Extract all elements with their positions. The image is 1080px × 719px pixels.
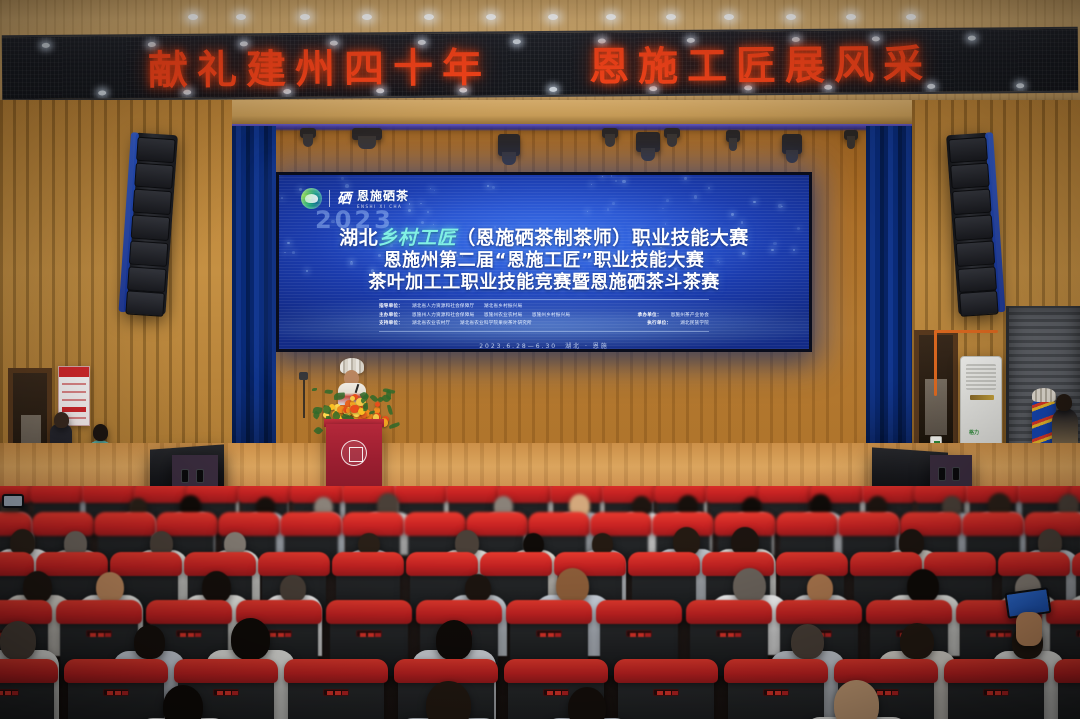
seat-number-plate	[323, 689, 349, 696]
seat-number-plate	[716, 630, 742, 637]
organizer-label: 主办单位：	[379, 312, 403, 321]
stage-spot-light	[352, 128, 382, 140]
organizer-row: 指导单位： 湖北省人力资源和社会保障厅 湖北省乡村振兴局	[379, 303, 709, 312]
audience-member-head	[436, 620, 473, 660]
audience-member-head	[791, 624, 824, 659]
stage-spot-light	[636, 132, 660, 152]
audience-member-head	[0, 621, 36, 660]
wall-conduit	[934, 330, 998, 333]
seat-number-plate	[626, 630, 652, 637]
organizer-label-secondary: 执行单位：	[647, 320, 671, 329]
seat-number-plate	[356, 630, 382, 637]
ac-display-panel	[970, 395, 994, 400]
staff-head	[54, 412, 69, 428]
stage-spot-light	[498, 134, 520, 156]
audience-member-head	[733, 568, 766, 604]
screen-date-location: 2023.6.28—6.30 湖北 · 恩施	[279, 341, 809, 349]
stage-spot-light	[844, 130, 858, 140]
screen-divider-top	[379, 299, 709, 300]
screen-title-line-2: 恩施州第二届“恩施工匠”职业技能大赛	[279, 250, 809, 272]
seat-number-plate	[543, 689, 569, 696]
stage-spot-light	[602, 128, 618, 138]
staff-head	[93, 424, 108, 441]
audience-member-head	[23, 571, 52, 602]
screen-bokeh-particles	[279, 175, 809, 349]
auditorium-seat[interactable]	[948, 671, 1044, 719]
logo-divider	[329, 190, 330, 207]
audience-member-head	[465, 574, 491, 602]
auditorium-seat[interactable]	[618, 671, 714, 719]
seat-number-plate	[0, 689, 19, 696]
organizer-value: 湖北省农业农村厅 湖北省农业科学院果树茶叶研究所	[412, 320, 532, 329]
title-1-suffix: （恩施硒茶制茶师）职业技能大赛	[456, 227, 749, 249]
audience-member-head	[280, 575, 305, 602]
attendee-phone-screen[interactable]	[2, 494, 24, 508]
seat-number-plate	[213, 689, 239, 696]
seat-number-plate	[653, 689, 679, 696]
stage-spot-light	[300, 128, 316, 138]
seat-number-plate	[86, 630, 112, 637]
stage-curtain-left	[232, 126, 276, 466]
audience-member-head	[907, 569, 939, 604]
audience-member-head	[96, 572, 124, 602]
seat-number-plate	[266, 630, 292, 637]
brand-name-cn: 恩施硒茶	[357, 189, 409, 203]
title-1-brush-text: 乡村工匠	[378, 227, 456, 249]
audience-member-head	[834, 680, 879, 719]
wall-conduit	[934, 330, 937, 396]
organizer-label: 指导单位：	[379, 303, 403, 312]
organizer-value-secondary: 恩施州茶产业协会	[671, 312, 709, 321]
ac-brand-label: 格力	[969, 429, 979, 436]
poster-header	[59, 367, 89, 377]
organizer-value: 湖北省人力资源和社会保障厅 湖北省乡村振兴局	[412, 303, 522, 312]
tea-emblem-icon	[301, 188, 322, 209]
audience-member-head	[163, 685, 203, 719]
stage-led-screen: 硒 恩施硒茶 ENSHI XI CHA 2023 湖北乡村工匠（恩施硒茶制茶师）…	[276, 172, 812, 352]
screen-divider-bottom	[379, 331, 709, 332]
podium-emblem-icon	[341, 440, 367, 466]
seat-number-plate	[763, 689, 789, 696]
speaking-podium	[326, 424, 382, 488]
microphone-stand	[303, 378, 305, 418]
attendee-head	[1056, 394, 1072, 411]
stage-spot-light	[782, 134, 802, 154]
auditorium-seat[interactable]	[288, 671, 384, 719]
ac-grille	[966, 364, 996, 390]
brand-name-pinyin: ENSHI XI CHA	[357, 204, 409, 209]
organizer-value: 恩施州人力资源和社会保障局 恩施州农业农村局 恩施州乡村振兴局	[412, 312, 570, 321]
seat-number-plate	[536, 630, 562, 637]
organizer-label: 支持单位：	[379, 320, 403, 329]
led-banner-text: 献礼建州四十年 恩施工匠展风采	[2, 31, 1078, 97]
stage-spot-light	[664, 128, 680, 138]
stage-spot-light	[726, 130, 740, 142]
audience-member-head	[231, 618, 270, 660]
seat-number-plate	[983, 689, 1009, 696]
title-1-prefix: 湖北	[339, 227, 378, 249]
audience-member-head	[202, 571, 231, 602]
screen-title-block: 湖北乡村工匠（恩施硒茶制茶师）职业技能大赛 恩施州第二届“恩施工匠”职业技能大赛…	[279, 227, 809, 294]
seat-number-plate	[176, 630, 202, 637]
organizer-row: 主办单位： 恩施州人力资源和社会保障局 恩施州农业农村局 恩施州乡村振兴局 承办…	[379, 312, 709, 321]
organizer-row: 支持单位： 湖北省农业农村厅 湖北省农业科学院果树茶叶研究所 执行单位： 湖北民…	[379, 320, 709, 329]
screen-logo-group: 硒 恩施硒茶 ENSHI XI CHA	[301, 187, 409, 209]
audience-seating-area	[0, 486, 1080, 719]
organizer-value-secondary: 湖北民族学院	[680, 320, 709, 329]
stage-curtain-right	[866, 126, 912, 466]
audience-member-head	[556, 568, 589, 603]
auditorium-scene: 献礼建州四十年 恩施工匠展风采 硒	[0, 0, 1080, 719]
seat-number-plate	[986, 630, 1012, 637]
ceiling-truss-lights	[0, 0, 1080, 30]
brand-mark-glyph: 硒	[337, 188, 350, 208]
brand-name: 恩施硒茶 ENSHI XI CHA	[357, 187, 409, 209]
auditorium-seat[interactable]	[0, 671, 54, 719]
audience-member-head	[134, 625, 165, 659]
attendee-hand	[1016, 612, 1042, 646]
seat-number-plate	[1076, 630, 1080, 637]
seat-number-plate	[103, 689, 129, 696]
audience-member-head	[900, 623, 934, 660]
screen-year: 2023	[315, 206, 394, 234]
led-banner: 献礼建州四十年 恩施工匠展风采	[2, 27, 1078, 101]
screen-title-line-1: 湖北乡村工匠（恩施硒茶制茶师）职业技能大赛	[279, 227, 809, 250]
auditorium-seat[interactable]	[68, 671, 164, 719]
audience-member-head	[807, 574, 833, 603]
screen-organizer-block: 指导单位： 湖北省人力资源和社会保障厅 湖北省乡村振兴局 主办单位： 恩施州人力…	[379, 303, 709, 329]
auditorium-seat[interactable]	[1058, 671, 1080, 719]
auditorium-seat[interactable]	[728, 671, 824, 719]
ethnic-headdress	[1032, 388, 1056, 402]
screen-title-line-3: 茶叶加工工职业技能竞赛暨恩施硒茶斗茶赛	[279, 272, 809, 294]
organizer-label-secondary: 承办单位：	[638, 312, 662, 321]
